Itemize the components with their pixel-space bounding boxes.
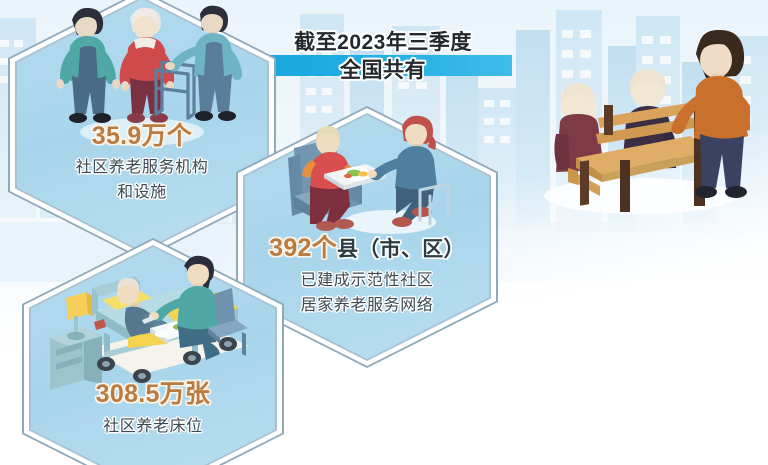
stat-card-beds[interactable]: 308.5万张 社区养老床位: [22, 238, 284, 465]
hospital-bed-feeding-illustration: [42, 252, 264, 392]
caregiver-right: [165, 6, 242, 121]
caregiver-woman: [367, 116, 437, 227]
stat-value-beds: 308.5万张: [22, 380, 284, 409]
park-bench-scene-illustration: [520, 10, 750, 230]
title-block: 截至2023年三季度 全国共有: [238, 30, 528, 98]
title-line-1: 截至2023年三季度: [238, 30, 528, 56]
armchair-meal-illustration: [270, 112, 466, 242]
title-line-2: 全国共有: [238, 58, 528, 84]
stat-caption-beds-line1: 社区养老床位: [22, 414, 284, 439]
caregiver-left: [56, 8, 120, 123]
infographic-canvas: 截至2023年三季度 全国共有: [0, 0, 768, 465]
stat-unit: 县（市、区）: [337, 238, 465, 261]
standing-man: [672, 30, 750, 198]
